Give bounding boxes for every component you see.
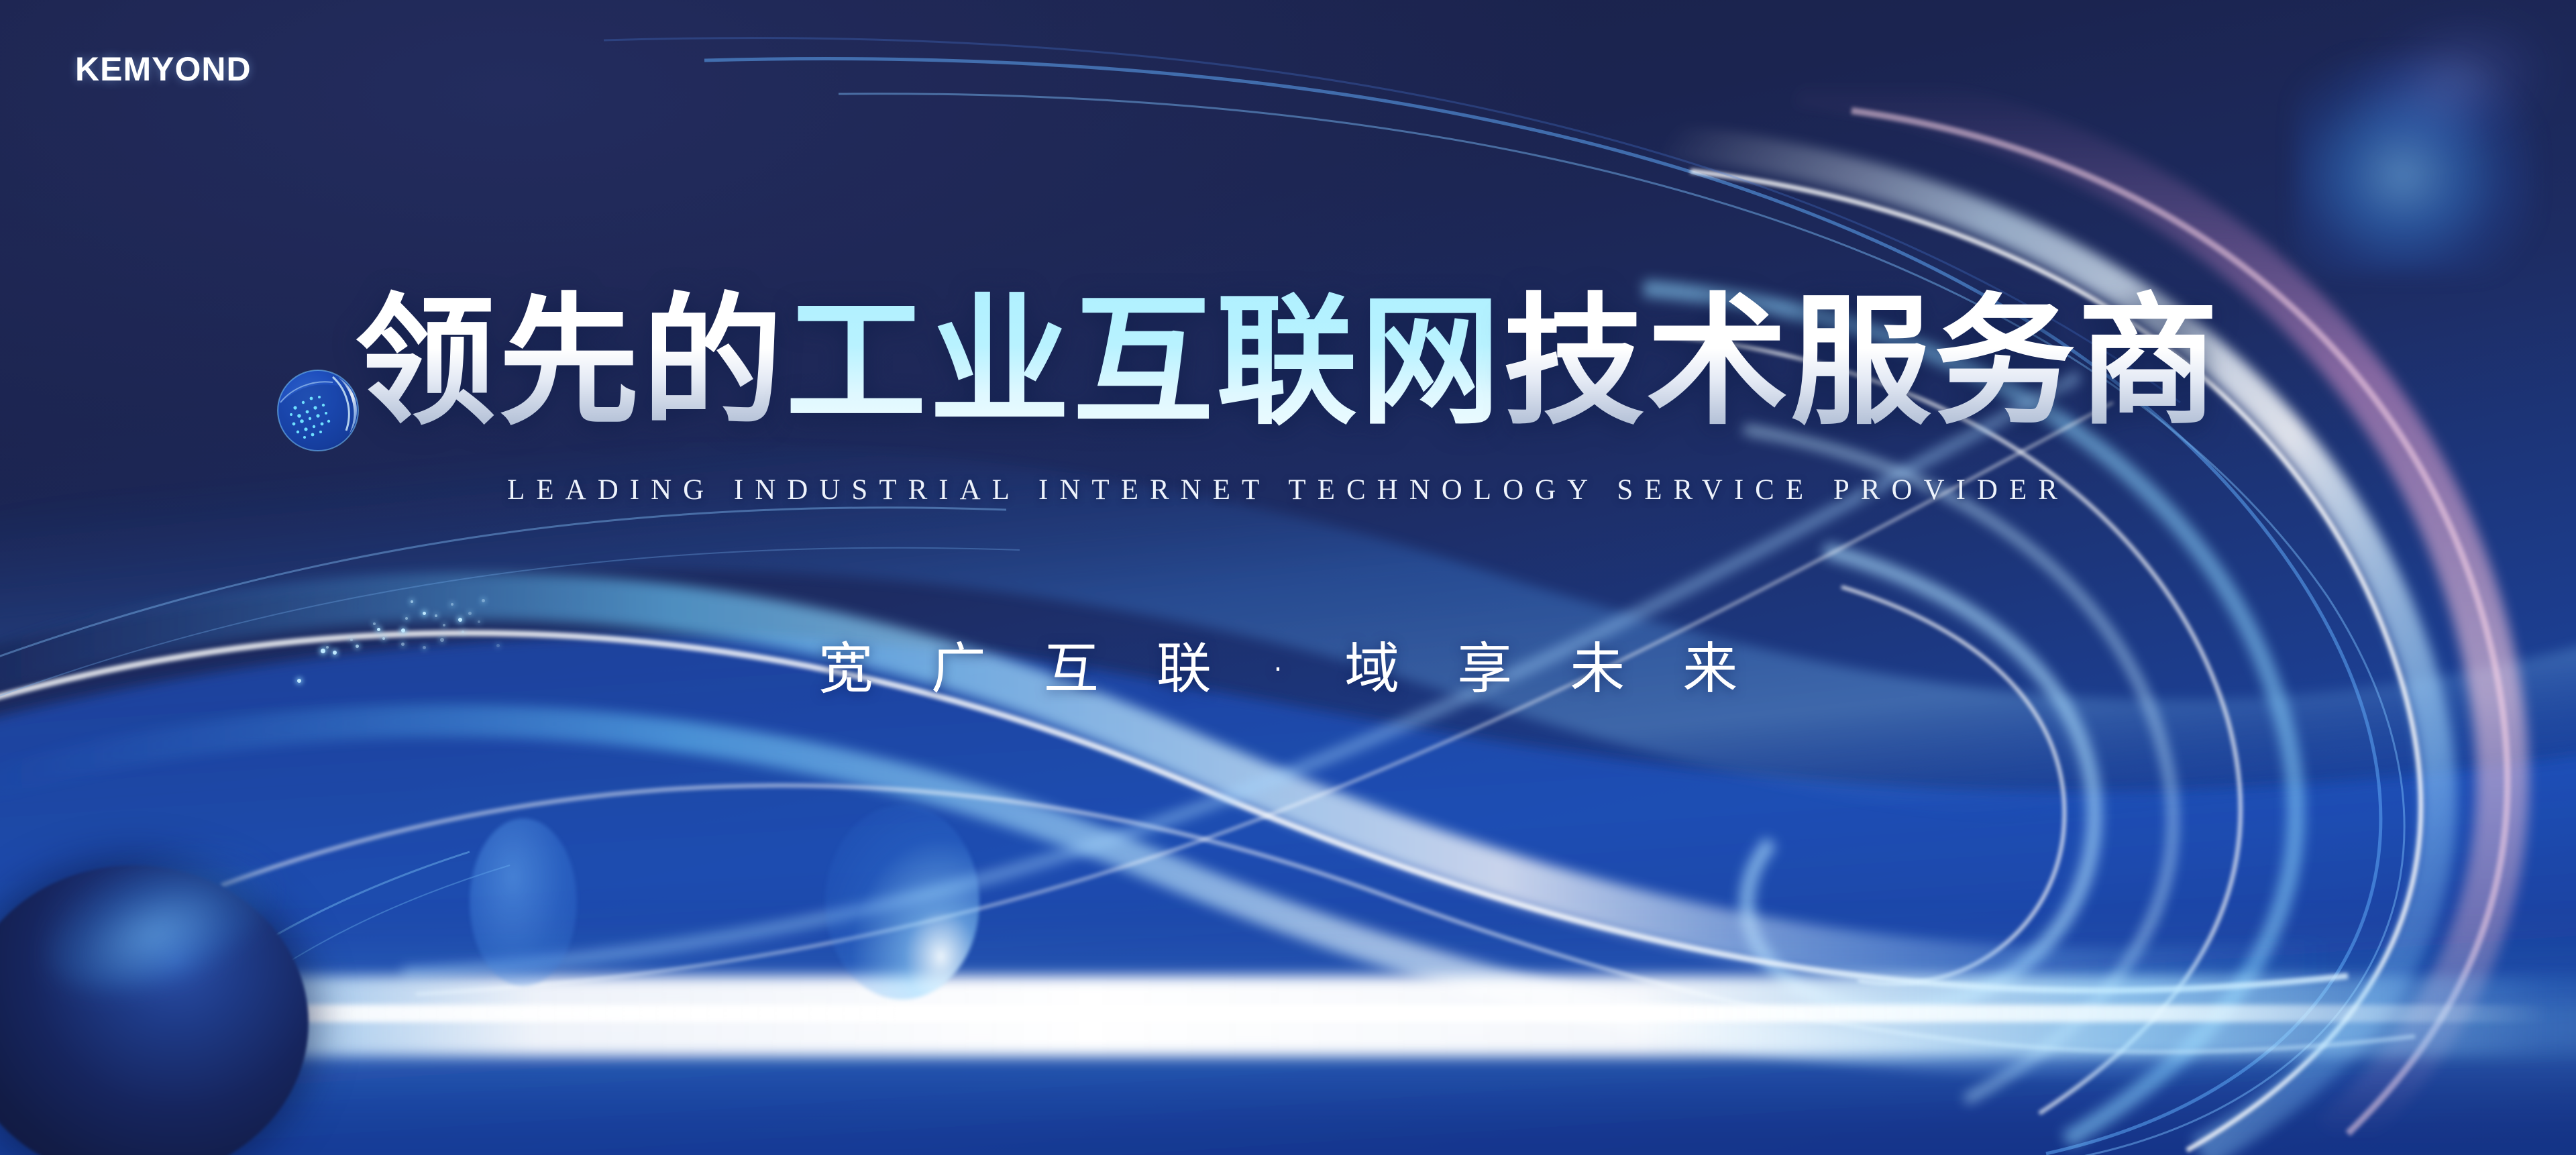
particle-dot [435,614,437,617]
page-title: 领先的工业互联网技术服务商 [0,292,2576,433]
particle-dot [423,612,426,615]
headline-segment-3: 技术服务商 [1503,280,2221,444]
particle-dot [405,617,408,620]
brand-logo[interactable]: KEMYOND [75,50,252,89]
page-subtitle: LEADING INDUSTRIAL INTERNET TECHNOLOGY S… [0,474,2576,506]
particle-dot [482,599,485,602]
particle-dot [468,612,472,615]
headline-segment-2: 工业互联网 [786,280,1503,444]
tech-sphere-icon [275,368,361,453]
background-artwork [0,0,2576,1155]
particle-dot [478,620,480,623]
page-tagline: 宽 广 互 联 · 域 享 未 来 [0,624,2576,704]
headline-segment-1: 领先的 [355,280,786,444]
banner-canvas: KEMYOND 领先的工业互联网技术服务商 LEADING INDUSTRIAL… [0,0,2576,1155]
particle-dot [451,603,453,606]
particle-dot [411,600,413,603]
particle-dot [458,618,462,622]
